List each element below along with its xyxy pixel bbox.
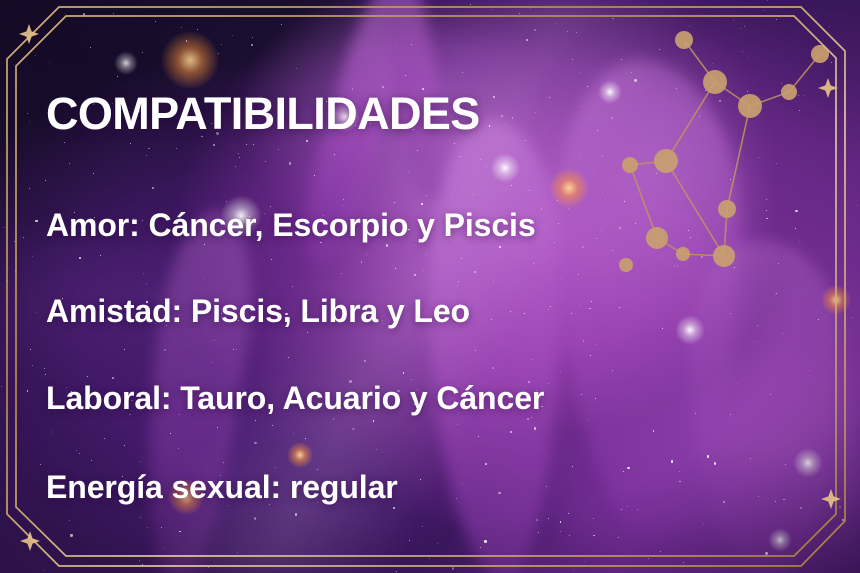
card-text-block: COMPATIBILIDADES Amor: Cáncer, Escorpio … bbox=[0, 0, 860, 573]
horoscope-compatibility-card: COMPATIBILIDADES Amor: Cáncer, Escorpio … bbox=[0, 0, 860, 573]
compatibility-line-amistad: Amistad: Piscis, Libra y Leo bbox=[46, 295, 470, 327]
compatibility-line-energia: Energía sexual: regular bbox=[46, 471, 398, 503]
compatibility-line-amor: Amor: Cáncer, Escorpio y Piscis bbox=[46, 209, 536, 241]
page-title: COMPATIBILIDADES bbox=[46, 91, 480, 136]
compatibility-line-laboral: Laboral: Tauro, Acuario y Cáncer bbox=[46, 382, 544, 414]
